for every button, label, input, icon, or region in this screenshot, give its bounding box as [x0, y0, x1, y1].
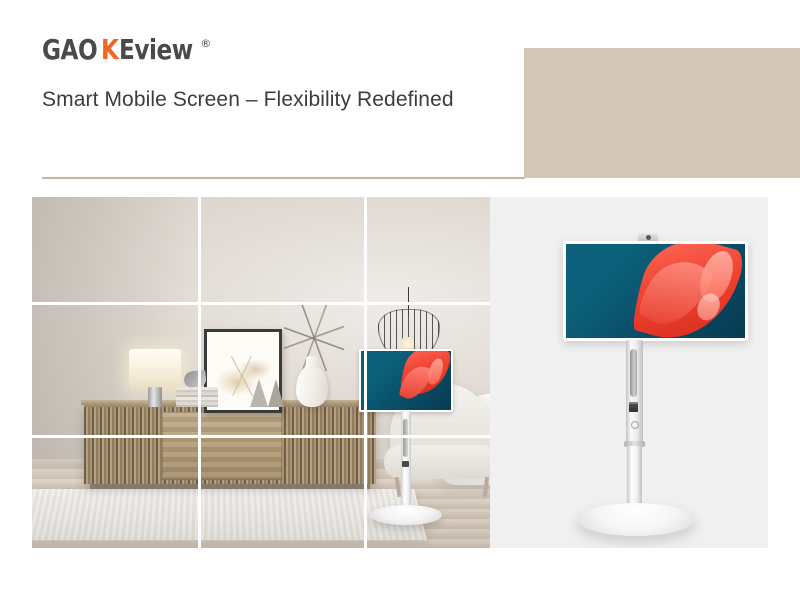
- stand-port-icon[interactable]: [631, 421, 639, 429]
- sideboard-cabinet: [84, 404, 376, 484]
- grid-line-horizontal-1: [32, 302, 490, 305]
- logo-text-k: K: [101, 36, 119, 64]
- table-lamp-shade: [129, 349, 181, 389]
- product-hero-scene: [490, 197, 768, 548]
- stand-base-disc: [577, 503, 695, 536]
- table-lamp-base: [148, 387, 162, 407]
- page-title: Smart Mobile Screen – Flexibility Redefi…: [42, 85, 482, 115]
- product-slide: GAO K Eview ® Smart Mobile Screen – Flex…: [0, 0, 800, 600]
- screen-wallpaper-small: [361, 351, 451, 410]
- stacked-books: [176, 387, 218, 407]
- grid-line-horizontal-2: [32, 435, 490, 438]
- stand-cable-slot: [630, 349, 637, 397]
- mobile-screen-small[interactable]: [359, 349, 453, 412]
- stand-slot-small: [403, 419, 408, 457]
- trademark-symbol: ®: [200, 38, 211, 49]
- cone-ornament-1: [250, 379, 268, 407]
- logo-text-gao: GAO: [42, 36, 97, 64]
- stand-base-small: [370, 505, 442, 525]
- hero-image-band: [32, 197, 768, 548]
- cabinet-door: [162, 412, 282, 480]
- stand-button-small[interactable]: [402, 461, 409, 467]
- grid-line-vertical-1: [198, 197, 201, 548]
- accent-color-block: [524, 48, 800, 178]
- camera-lens-icon: [646, 235, 651, 240]
- brand-logo: GAO K Eview ®: [42, 36, 211, 66]
- living-room-scene: [32, 197, 490, 548]
- cone-ornament-2: [268, 379, 284, 407]
- mobile-screen-large[interactable]: [563, 241, 748, 341]
- screen-wallpaper-large: [566, 244, 745, 338]
- header-divider: [42, 177, 525, 179]
- cabinet-base: [90, 484, 370, 489]
- stand-pole-lower: [627, 446, 642, 511]
- grid-line-vertical-2: [364, 197, 367, 548]
- stand-power-button[interactable]: [629, 402, 638, 412]
- area-rug: [32, 489, 427, 540]
- ceramic-vase: [296, 365, 328, 407]
- armchair-seat: [384, 445, 490, 479]
- logo-text-eview: Eview: [119, 36, 193, 64]
